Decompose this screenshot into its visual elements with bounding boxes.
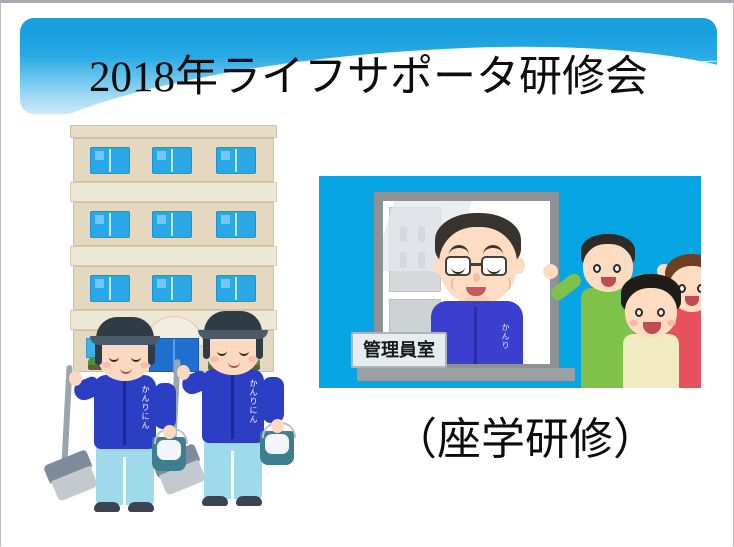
building-window [216, 275, 256, 302]
eye-icon [593, 264, 601, 273]
slide-title: 2018年ライフサポータ研修会 [20, 18, 717, 114]
worker-jacket: かんりにん [202, 369, 264, 443]
arm-down [154, 383, 176, 429]
worker-pants [204, 439, 262, 499]
broom-head-icon [43, 449, 93, 485]
child-figure-center [609, 274, 695, 388]
worker-shoe [128, 502, 154, 512]
jacket-text: かんり [500, 323, 511, 350]
cleaning-rag-icon [265, 434, 289, 454]
hand-icon [163, 425, 176, 439]
zipper-icon [123, 379, 126, 445]
cap-brim-icon [198, 330, 268, 339]
building-window [216, 147, 256, 174]
manager-office-sign: 管理員室 [351, 332, 447, 368]
manager-office-sign-label: 管理員室 [363, 341, 435, 359]
building-window [152, 275, 192, 302]
smile-line-icon [451, 277, 461, 291]
zipper-icon [474, 307, 477, 364]
building-band [70, 246, 277, 266]
cap-brim-icon [90, 336, 160, 345]
worker-shoe [202, 496, 228, 506]
hand-icon [177, 365, 190, 380]
glasses-lens-icon [445, 256, 471, 276]
smile-line-icon [501, 277, 511, 291]
worker-shoe [94, 502, 120, 512]
worker-jacket: かんりにん [94, 375, 156, 449]
eye-icon [613, 264, 621, 273]
jacket-text: かんりにん [249, 379, 257, 424]
cheek-icon [210, 356, 219, 362]
hand-icon [271, 419, 284, 433]
building-band [70, 182, 277, 202]
jacket-text: かんりにん [141, 385, 149, 430]
cheek-icon [102, 362, 111, 368]
caretaker-figure-left: かんりにん [78, 317, 170, 517]
cheek-icon [140, 362, 149, 368]
worker-cap [96, 317, 154, 343]
slide-caption: （座学研修） [393, 418, 657, 462]
title-banner: 2018年ライフサポータ研修会 [20, 18, 717, 114]
manager-office-illustration: かんり 管理員室 [319, 176, 701, 388]
cleaning-rag-icon [157, 440, 181, 460]
worker-cap [204, 311, 262, 337]
building-window [216, 211, 256, 238]
eye-icon [657, 308, 665, 317]
eye-icon [635, 308, 643, 317]
hand-icon [69, 371, 82, 386]
worker-pants [96, 445, 154, 505]
cleaning-bucket [152, 437, 186, 471]
zipper-icon [231, 373, 234, 439]
building-window [152, 211, 192, 238]
cheek-icon [667, 320, 676, 326]
cheek-icon [248, 356, 257, 362]
glasses-lens-icon [481, 256, 507, 276]
cleaning-bucket [260, 431, 294, 465]
eye-icon [697, 284, 701, 293]
caretaker-figure-right: かんりにん [186, 311, 278, 511]
building-window [152, 147, 192, 174]
worker-shoe [236, 496, 262, 506]
nose-icon [473, 273, 480, 282]
window-sill [357, 368, 575, 381]
arm-down [262, 377, 284, 423]
child-shirt [623, 334, 679, 388]
hand-icon [543, 264, 558, 279]
building-window [90, 211, 130, 238]
building-window [90, 147, 130, 174]
building-window [90, 275, 130, 302]
apartment-building-illustration: かんりにん [56, 125, 306, 525]
glasses-bridge-icon [471, 263, 481, 266]
cheek-icon [629, 320, 638, 326]
building-roof [70, 125, 277, 138]
presentation-slide: 2018年ライフサポータ研修会 [0, 0, 734, 547]
